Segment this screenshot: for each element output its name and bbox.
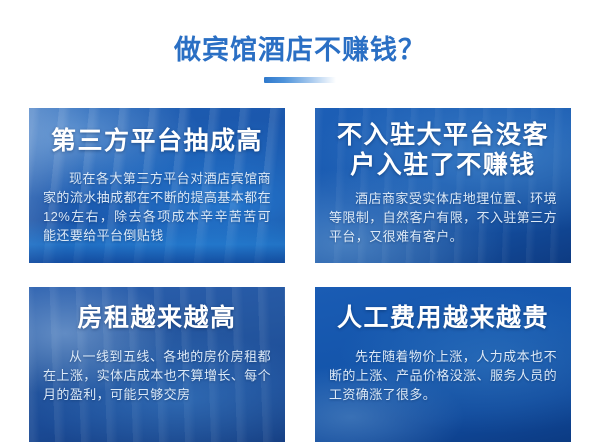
- page-title: 做宾馆酒店不赚钱？: [0, 34, 600, 66]
- card-heading: 第三方平台抽成高: [41, 126, 273, 156]
- card-body-text: 现在各大第三方平台对酒店宾馆商家的流水抽成都在不断的提高基本都在12%左右，除去…: [41, 169, 273, 245]
- card-content: 不入驻大平台没客户入驻了不赚钱 酒店商家受实体店地理位置、环境等限制，自然客户有…: [327, 108, 559, 263]
- card-content: 第三方平台抽成高 现在各大第三方平台对酒店宾馆商家的流水抽成都在不断的提高基本都…: [41, 108, 273, 263]
- card-content: 房租越来越高 从一线到五线、各地的房价房租都在上涨，实体店成本也不算增长、每个月…: [41, 287, 273, 442]
- card-body-text: 酒店商家受实体店地理位置、环境等限制，自然客户有限，不入驻第三方平台，又很难有客…: [327, 189, 559, 246]
- card-rising-rent[interactable]: 房租越来越高 从一线到五线、各地的房价房租都在上涨，实体店成本也不算增长、每个月…: [29, 287, 285, 442]
- card-body-text: 先在随着物价上涨，人力成本也不断的上涨、产品价格没涨、服务人员的工资确涨了很多。: [327, 347, 559, 404]
- pain-point-card-grid: 第三方平台抽成高 现在各大第三方平台对酒店宾馆商家的流水抽成都在不断的提高基本都…: [29, 108, 571, 442]
- card-heading: 人工费用越来越贵: [327, 303, 559, 333]
- card-rising-labor-cost[interactable]: 人工费用越来越贵 先在随着物价上涨，人力成本也不断的上涨、产品价格没涨、服务人员…: [315, 287, 571, 442]
- card-content: 人工费用越来越贵 先在随着物价上涨，人力成本也不断的上涨、产品价格没涨、服务人员…: [327, 287, 559, 442]
- title-underline-accent: [264, 77, 336, 83]
- card-no-platform-no-customers[interactable]: 不入驻大平台没客户入驻了不赚钱 酒店商家受实体店地理位置、环境等限制，自然客户有…: [315, 108, 571, 263]
- page-header: 做宾馆酒店不赚钱？: [0, 0, 600, 83]
- card-heading: 房租越来越高: [41, 303, 273, 333]
- card-body-text: 从一线到五线、各地的房价房租都在上涨，实体店成本也不算增长、每个月的盈利，可能只…: [41, 347, 273, 404]
- card-heading: 不入驻大平台没客户入驻了不赚钱: [327, 120, 559, 180]
- card-third-party-commission[interactable]: 第三方平台抽成高 现在各大第三方平台对酒店宾馆商家的流水抽成都在不断的提高基本都…: [29, 108, 285, 263]
